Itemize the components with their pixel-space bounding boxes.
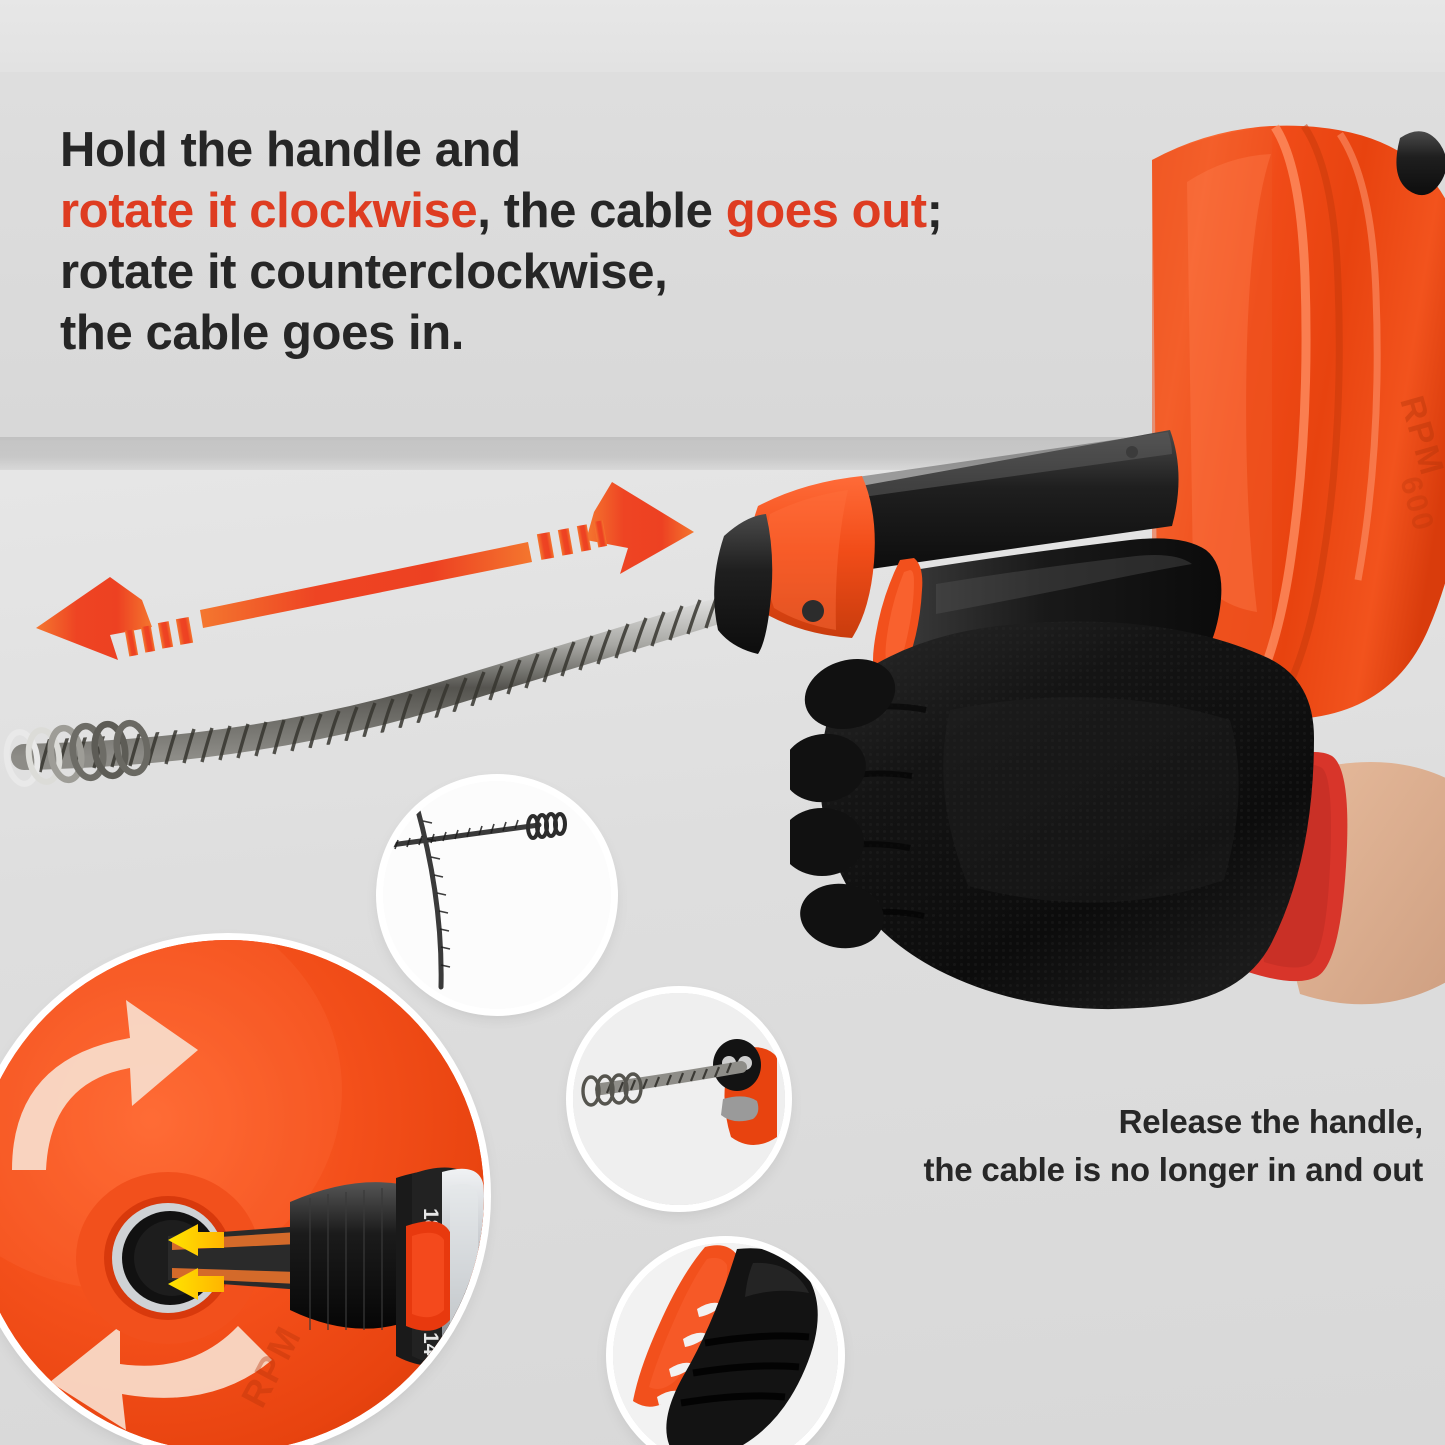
nose-nut bbox=[714, 514, 772, 654]
drum-clip bbox=[1396, 131, 1445, 195]
glove-body bbox=[790, 622, 1314, 1010]
background-top-band bbox=[0, 0, 1445, 72]
inset-cable-crossing bbox=[383, 781, 611, 1009]
headline-accent-clockwise: rotate it clockwise bbox=[60, 184, 477, 238]
drain-cable bbox=[0, 560, 820, 800]
sub-caption-line-1: Release the handle, bbox=[783, 1098, 1423, 1146]
inset-cable-tip bbox=[573, 993, 785, 1205]
sub-caption-line-2: the cable is no longer in and out bbox=[783, 1146, 1423, 1194]
infographic-canvas: Hold the handle and rotate it clockwise,… bbox=[0, 0, 1445, 1445]
gloved-hand bbox=[790, 590, 1445, 1070]
sub-caption-text: Release the handle, the cable is no long… bbox=[783, 1098, 1423, 1194]
